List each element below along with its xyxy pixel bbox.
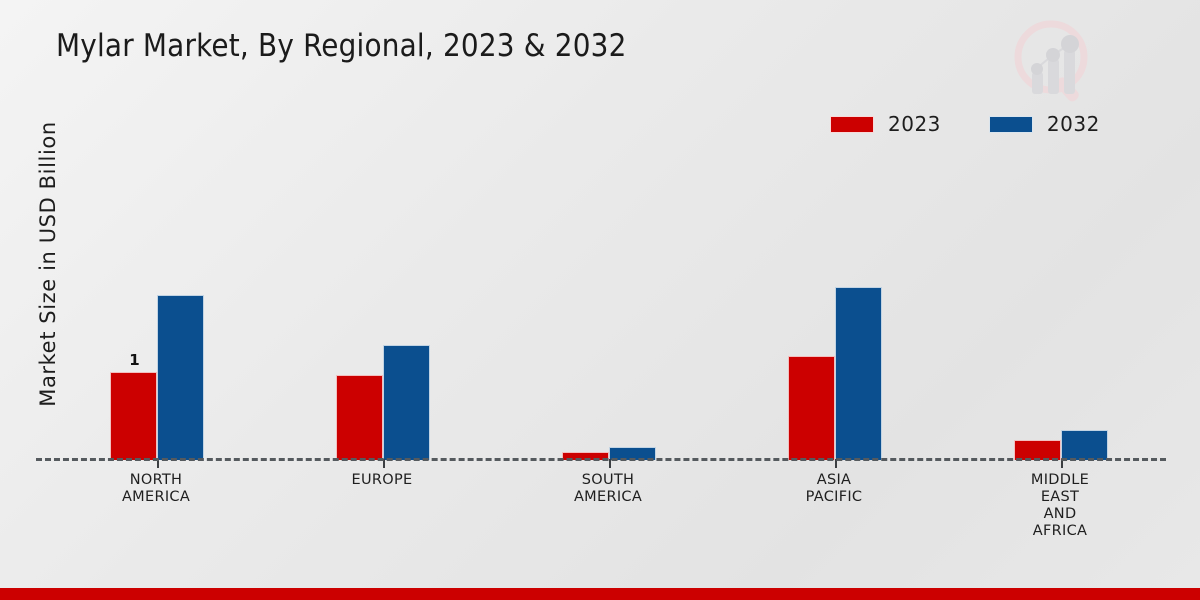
cat-line: PACIFIC <box>744 489 924 506</box>
bar-2023-north-america[interactable]: 1 <box>110 372 157 460</box>
x-axis-baseline <box>36 458 1166 461</box>
cat-line: AFRICA <box>970 523 1150 540</box>
cat-line: ASIA <box>744 472 924 489</box>
cat-line: SOUTH <box>518 472 698 489</box>
plot-area: 1 <box>36 130 1166 460</box>
x-axis-label-south-america: SOUTH AMERICA <box>518 472 698 506</box>
bar-2032-asia-pacific[interactable] <box>835 287 882 460</box>
page-title: Mylar Market, By Regional, 2023 & 2032 <box>56 28 627 64</box>
footer-accent-bar <box>0 588 1200 600</box>
bar-value-label: 1 <box>111 351 158 369</box>
watermark-logo-icon <box>1010 16 1102 108</box>
cat-line: NORTH <box>66 472 246 489</box>
bar-2032-europe[interactable] <box>383 345 430 460</box>
bar-2023-europe[interactable] <box>336 375 383 460</box>
cat-line: EUROPE <box>292 472 472 489</box>
bar-group-middle-east-and-africa <box>1014 130 1110 460</box>
bar-group-europe <box>336 130 432 460</box>
x-axis-label-middle-east-and-africa: MIDDLE EAST AND AFRICA <box>970 472 1150 540</box>
bar-group-north-america: 1 <box>110 130 206 460</box>
bar-2023-middle-east-and-africa[interactable] <box>1014 440 1061 460</box>
cat-line: AND <box>970 506 1150 523</box>
x-axis-label-europe: EUROPE <box>292 472 472 489</box>
bar-2023-asia-pacific[interactable] <box>788 356 835 460</box>
bar-2032-middle-east-and-africa[interactable] <box>1061 430 1108 460</box>
x-axis-label-asia-pacific: ASIA PACIFIC <box>744 472 924 506</box>
cat-line: EAST <box>970 489 1150 506</box>
cat-line: AMERICA <box>518 489 698 506</box>
chart-canvas: Mylar Market, By Regional, 2023 & 2032 M… <box>0 0 1200 600</box>
cat-line: MIDDLE <box>970 472 1150 489</box>
cat-line: AMERICA <box>66 489 246 506</box>
bar-group-asia-pacific <box>788 130 884 460</box>
bar-group-south-america <box>562 130 658 460</box>
bar-2032-north-america[interactable] <box>157 295 204 460</box>
x-axis-label-north-america: NORTH AMERICA <box>66 472 246 506</box>
